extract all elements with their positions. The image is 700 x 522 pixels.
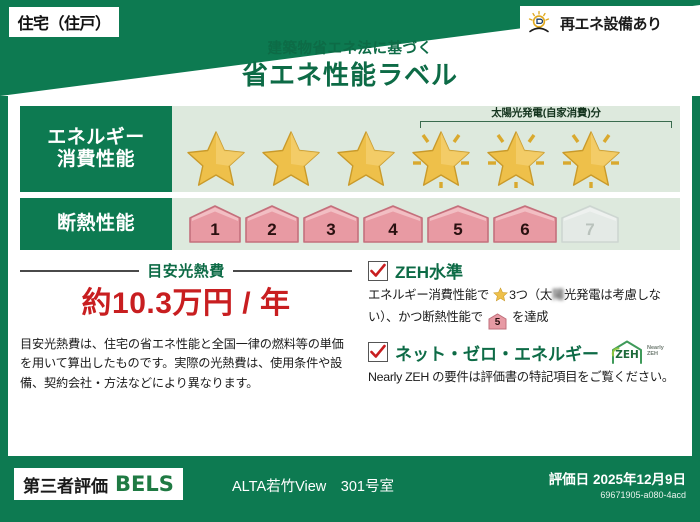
insulation-level-scale: 1 2 3 4 5 6 7 (172, 204, 620, 244)
inline-insulation-badge: 5 (488, 313, 507, 330)
zeh-logo: ZEH Nearly ZEH (609, 339, 664, 365)
solar-annotation-label: 太陽光発電(自家消費)分 (420, 108, 672, 120)
star-icon (555, 126, 627, 188)
net-zero-title: ネット・ゼロ・エネルギー (395, 340, 599, 365)
evaluation-id: 69671905-a080-4acd (549, 490, 686, 500)
utility-cost-note: 目安光熱費は、住宅の省エネ性能と全国一律の燃料等の単価を用いて算出したものです。… (20, 335, 352, 394)
energy-performance-value: 太陽光発電(自家消費)分 (172, 106, 680, 192)
zeh-house-icon: ZEH (609, 339, 645, 365)
insulation-level-5: 5 (426, 204, 490, 244)
insulation-level-4: 4 (362, 204, 424, 244)
zeh-standard-title: ZEH水準 (395, 258, 463, 283)
renewable-energy-badge: 再エネ設備あり (520, 6, 692, 40)
check-item-net-zero-energy: ネット・ゼロ・エネルギー ZEH Nearly ZEH (368, 339, 680, 387)
title-block: 建築物省エネ法に基づく 省エネ性能ラベル (0, 42, 700, 91)
insulation-level-6: 6 (492, 204, 558, 244)
evaluation-info: 評価日 2025年12月9日 69671905-a080-4acd (549, 468, 686, 500)
zeh-desc-part4: を達成 (509, 310, 548, 324)
bels-label: BELS (115, 472, 174, 496)
star-icon (480, 126, 552, 188)
inline-star-icon (493, 287, 508, 308)
insulation-key-label: 断熱性能 (57, 213, 135, 235)
zeh-desc-blurred-char: 陽 (552, 286, 564, 305)
title-main: 省エネ性能ラベル (0, 60, 700, 91)
renewable-badge-label: 再エネ設備あり (560, 13, 662, 34)
insulation-level-label: 1 (210, 220, 219, 240)
insulation-performance-value: 1 2 3 4 5 6 7 (172, 198, 680, 250)
net-zero-description: Nearly ZEH の要件は評価書の特記項目をご覧ください。 (368, 368, 680, 387)
footer-band: 第三者評価 BELS ALTA若竹View 301号室 評価日 2025年12月… (0, 456, 700, 522)
energy-performance-row: エネルギー 消費性能 太陽光発電(自家消費)分 (20, 106, 680, 192)
certification-checks: ZEH水準 エネルギー消費性能で 3つ（太陽光発電は考慮しない）、かつ断熱性能で… (362, 258, 680, 396)
utility-cost-header: 目安光熱費 (20, 260, 352, 281)
energy-star-rating (172, 126, 633, 192)
insulation-level-label: 2 (267, 220, 276, 240)
net-zero-checkbox[interactable] (368, 342, 388, 362)
zeh-desc-part1: エネルギー消費性能で (368, 288, 492, 302)
check-icon (370, 344, 386, 360)
document-type-tag: 住宅（住戸） (8, 6, 120, 38)
solar-annotation-bracket (420, 121, 672, 128)
zeh-standard-description: エネルギー消費性能で 3つ（太陽光発電は考慮しない）、かつ断熱性能で 5 を達成 (368, 286, 680, 330)
insulation-level-label: 4 (388, 220, 397, 240)
zeh-logo-sub-line2: ZEH (647, 352, 664, 358)
cost-rule-right (233, 270, 352, 272)
sun-icon (526, 10, 554, 36)
insulation-level-2: 2 (244, 204, 300, 244)
document-type-label: 住宅（住戸） (17, 10, 110, 34)
energy-performance-label: 住宅（住戸） 再エネ設備あり 建築物省エネ法に基づく 省エネ性能ラベル エネルギ… (0, 0, 700, 522)
check-item-zeh-standard: ZEH水準 エネルギー消費性能で 3つ（太陽光発電は考慮しない）、かつ断熱性能で… (368, 258, 680, 330)
energy-key-line2: 消費性能 (57, 149, 135, 171)
zeh-desc-part2: 3つ（太 (509, 288, 552, 302)
bels-certification-box: 第三者評価 BELS (14, 468, 183, 500)
utility-cost-value: 約10.3万円 / 年 (20, 287, 352, 322)
star-icon (180, 126, 252, 188)
energy-key-line1: エネルギー (47, 127, 145, 149)
solar-annotation: 太陽光発電(自家消費)分 (420, 108, 672, 128)
star-icon (330, 126, 402, 188)
insulation-level-7: 7 (560, 204, 620, 244)
zeh-standard-checkbox[interactable] (368, 261, 388, 281)
star-icon (255, 126, 327, 188)
utility-cost-block: 目安光熱費 約10.3万円 / 年 目安光熱費は、住宅の省エネ性能と全国一律の燃… (20, 258, 362, 396)
energy-performance-key: エネルギー 消費性能 (20, 106, 172, 192)
third-party-label: 第三者評価 (23, 472, 108, 497)
zeh-standard-title-row: ZEH水準 (368, 258, 680, 283)
title-subtitle: 建築物省エネ法に基づく (0, 42, 700, 58)
building-name: ALTA若竹View 301号室 (232, 475, 394, 496)
insulation-level-label: 5 (453, 220, 462, 240)
insulation-performance-row: 断熱性能 1 2 3 4 5 6 7 (20, 198, 680, 250)
zeh-logo-sub: Nearly ZEH (647, 346, 664, 358)
main-card: エネルギー 消費性能 太陽光発電(自家消費)分 (8, 96, 692, 456)
insulation-level-label: 3 (326, 220, 335, 240)
net-zero-title-row: ネット・ゼロ・エネルギー ZEH Nearly ZEH (368, 339, 680, 365)
utility-cost-title: 目安光熱費 (147, 260, 225, 281)
insulation-level-label: 6 (520, 220, 529, 240)
insulation-level-1: 1 (188, 204, 242, 244)
insulation-level-3: 3 (302, 204, 360, 244)
insulation-performance-key: 断熱性能 (20, 198, 172, 250)
star-icon (405, 126, 477, 188)
insulation-level-label: 7 (585, 220, 594, 240)
evaluation-date: 評価日 2025年12月9日 (549, 468, 686, 488)
check-icon (370, 263, 386, 279)
inline-insulation-badge-label: 5 (495, 317, 500, 328)
cost-rule-left (20, 270, 139, 272)
svg-text:ZEH: ZEH (615, 349, 639, 361)
details-section: 目安光熱費 約10.3万円 / 年 目安光熱費は、住宅の省エネ性能と全国一律の燃… (20, 258, 680, 396)
